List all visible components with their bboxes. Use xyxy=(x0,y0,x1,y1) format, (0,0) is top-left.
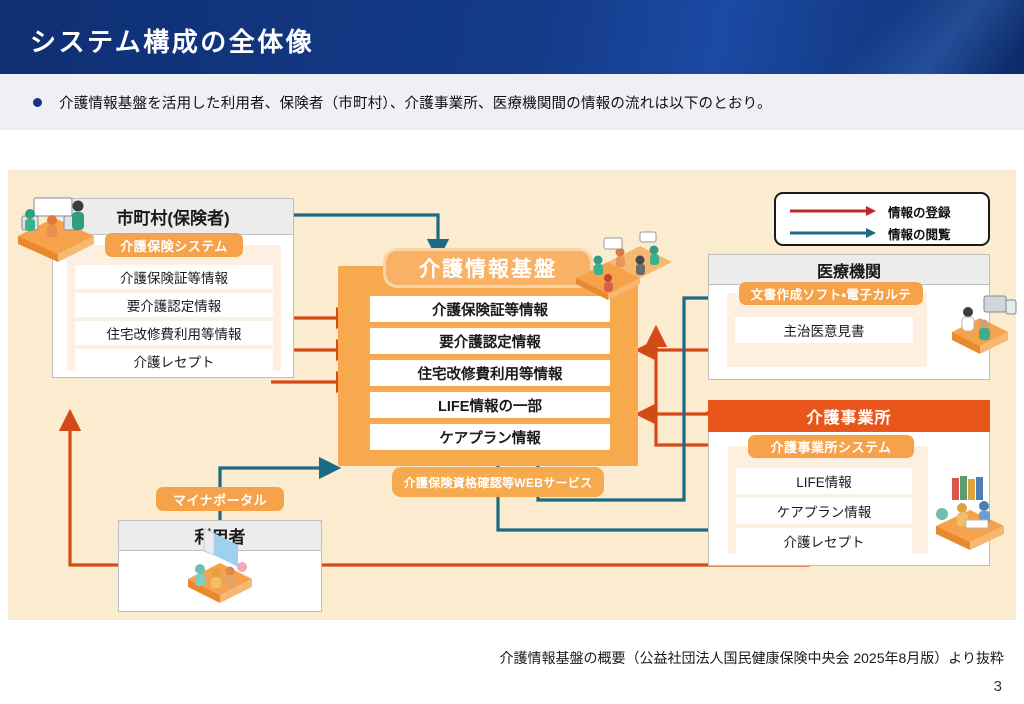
platform-title: 介護情報基盤 xyxy=(386,251,590,285)
legend-label-register: 情報の登録 xyxy=(888,202,951,221)
care-information-platform: 介護保険証等情報 要介護認定情報 住宅改修費利用等情報 LIFE情報の一部 ケア… xyxy=(338,266,638,466)
medical-system-label: 文書作成ソフト・電子カルテ xyxy=(739,282,923,305)
source-caption: 介護情報基盤の概要（公益社団法人国民健康保険中央会 2025年8月版）より抜粋 xyxy=(0,648,1004,668)
mynaportal-label: マイナポータル xyxy=(156,487,284,511)
care-office-row-receipt: 介護レセプト xyxy=(736,528,912,554)
care-office-row-care-plan: ケアプラン情報 xyxy=(736,498,912,524)
care-office-title: 介護事業所 xyxy=(708,400,990,432)
platform-row-life-partial: LIFE情報の一部 xyxy=(370,392,610,418)
legend-label-view: 情報の閲覧 xyxy=(888,224,951,243)
user-panel: 利用者 xyxy=(118,520,322,612)
arrow-right-icon xyxy=(786,226,878,240)
medical-institution-panel: 医療機関 文書作成ソフト・電子カルテ 主治医意見書 xyxy=(708,254,990,380)
medical-institution-title: 医療機関 xyxy=(709,255,989,285)
medical-row-doctor-opinion: 主治医意見書 xyxy=(735,317,913,343)
municipality-panel: 市町村(保険者) 介護保険システム 介護保険証等情報 要介護認定情報 住宅改修費… xyxy=(52,198,294,378)
title-bar-sheen xyxy=(721,0,1024,74)
slide-subheader: 介護情報基盤を活用した利用者、保険者（市町村）、介護事業所、医療機関間の情報の流… xyxy=(0,74,1024,130)
bullet-dot-icon xyxy=(33,98,42,107)
municipality-system-label: 介護保険システム xyxy=(105,233,243,257)
legend-item-register: 情報の登録 xyxy=(786,200,978,222)
care-office-row-life: LIFE情報 xyxy=(736,468,912,494)
user-title: 利用者 xyxy=(119,521,321,551)
legend: 情報の登録 情報の閲覧 xyxy=(774,192,990,246)
municipality-row-home-renovation: 住宅改修費利用等情報 xyxy=(75,321,273,345)
arrow-right-icon xyxy=(786,204,878,218)
page-number: 3 xyxy=(994,678,1002,695)
municipality-title: 市町村(保険者) xyxy=(53,199,293,235)
municipality-row-insurance-card: 介護保険証等情報 xyxy=(75,265,273,289)
subheader-text: 介護情報基盤を活用した利用者、保険者（市町村）、介護事業所、医療機関間の情報の流… xyxy=(59,92,772,113)
care-office-system-label: 介護事業所システム xyxy=(748,435,914,458)
platform-row-insurance-card: 介護保険証等情報 xyxy=(370,296,610,322)
system-architecture-diagram: 情報の登録 情報の閲覧 市町村(保険者) 介護保険システム 介護保険証等情報 要… xyxy=(8,170,1016,620)
care-office-panel: 介護事業所 介護事業所システム LIFE情報 ケアプラン情報 介護レセプト xyxy=(708,400,990,566)
municipality-row-certification: 要介護認定情報 xyxy=(75,293,273,317)
slide-title-bar: システム構成の全体像 xyxy=(0,0,1024,74)
page-title: システム構成の全体像 xyxy=(30,22,314,59)
municipality-row-receipt: 介護レセプト xyxy=(75,349,273,373)
platform-row-certification: 要介護認定情報 xyxy=(370,328,610,354)
platform-row-care-plan: ケアプラン情報 xyxy=(370,424,610,450)
web-service-label: 介護保険資格確認等WEBサービス xyxy=(392,467,604,497)
platform-row-home-renovation: 住宅改修費利用等情報 xyxy=(370,360,610,386)
legend-item-view: 情報の閲覧 xyxy=(786,222,978,244)
